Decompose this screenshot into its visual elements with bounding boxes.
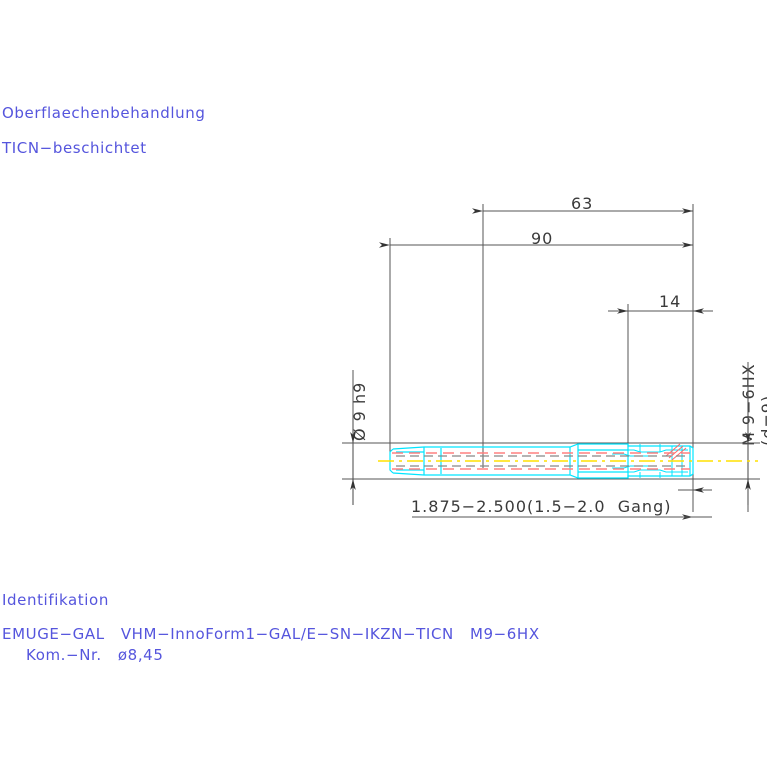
cad-drawing-page: Oberflaechenbehandlung TICN−beschichtet …	[0, 0, 767, 767]
dimension-line-shank-diameter	[350, 418, 356, 505]
dimension-line-thread-pitch-range	[412, 487, 712, 520]
dimension-line-thread-spec	[745, 370, 751, 505]
dimension-line-14	[608, 308, 713, 314]
technical-drawing-canvas	[0, 0, 767, 767]
